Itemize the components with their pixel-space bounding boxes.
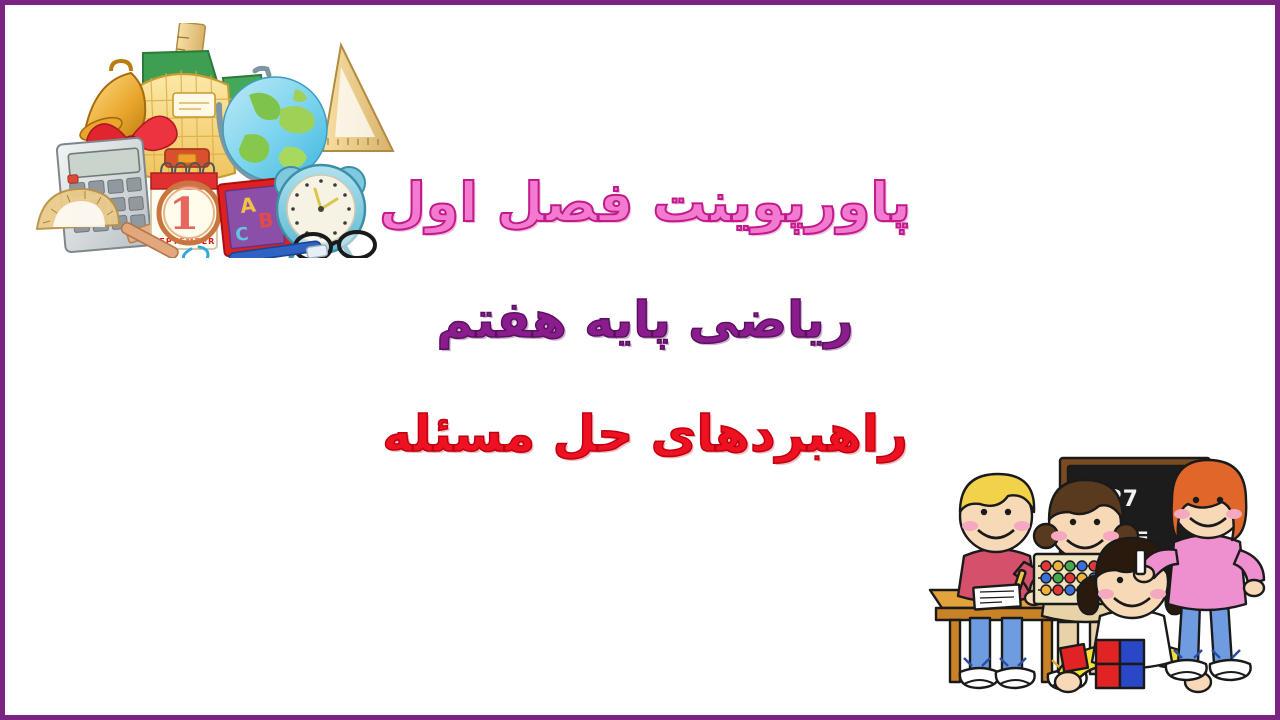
title-line-subject-grade: ریاضی پایه هفتم [335, 294, 955, 347]
svg-text:A: A [239, 192, 257, 218]
title-line-chapter: پاورپوینت فصل اول [335, 175, 955, 232]
chalk-icon [1136, 550, 1145, 574]
triangle-ruler-icon [323, 45, 393, 151]
svg-text:C: C [234, 224, 249, 246]
title-block: پاورپوینت فصل اول ریاضی پایه هفتم راهبرد… [335, 175, 955, 461]
svg-text:B: B [257, 208, 275, 233]
title-line-topic: راهبردهای حل مسئله [335, 408, 955, 461]
children-classroom-illustration: 9)27 6×8= [920, 450, 1270, 705]
slide-canvas: 1 SEPTEMBER A B C [0, 0, 1280, 720]
